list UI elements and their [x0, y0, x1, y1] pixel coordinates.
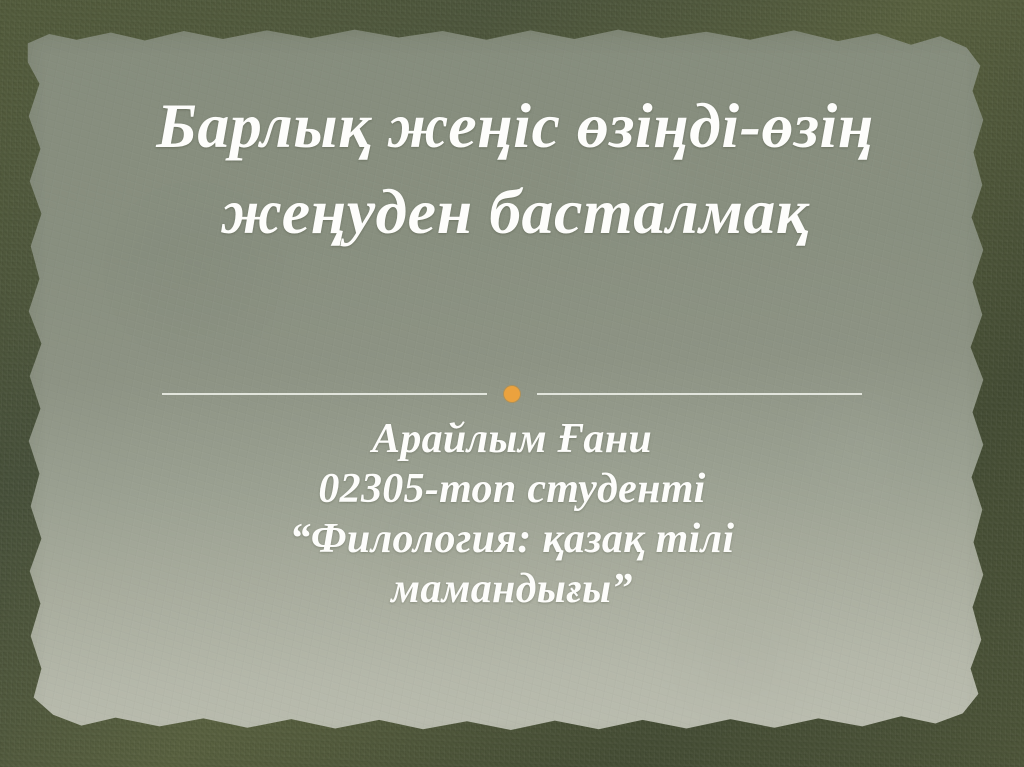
- slide-subtitle: Арайлым Ғани 02305-топ студенті “Филолог…: [112, 414, 912, 614]
- slide-content: Барлық жеңіс өзіңді-өзің жеңуден басталм…: [0, 0, 1024, 767]
- section-divider: [162, 386, 862, 402]
- subtitle-line-program-1: “Филология: қазақ тілі: [112, 514, 912, 564]
- slide-title: Барлық жеңіс өзіңді-өзің жеңуден басталм…: [110, 83, 920, 255]
- presentation-slide: Барлық жеңіс өзіңді-өзің жеңуден басталм…: [0, 0, 1024, 767]
- subtitle-line-group: 02305-топ студенті: [112, 464, 912, 514]
- divider-rule-right: [537, 393, 862, 395]
- divider-rule-left: [162, 393, 487, 395]
- subtitle-line-author: Арайлым Ғани: [112, 414, 912, 464]
- divider-dot-icon: [504, 386, 520, 402]
- subtitle-line-program-2: мамандығы”: [112, 564, 912, 614]
